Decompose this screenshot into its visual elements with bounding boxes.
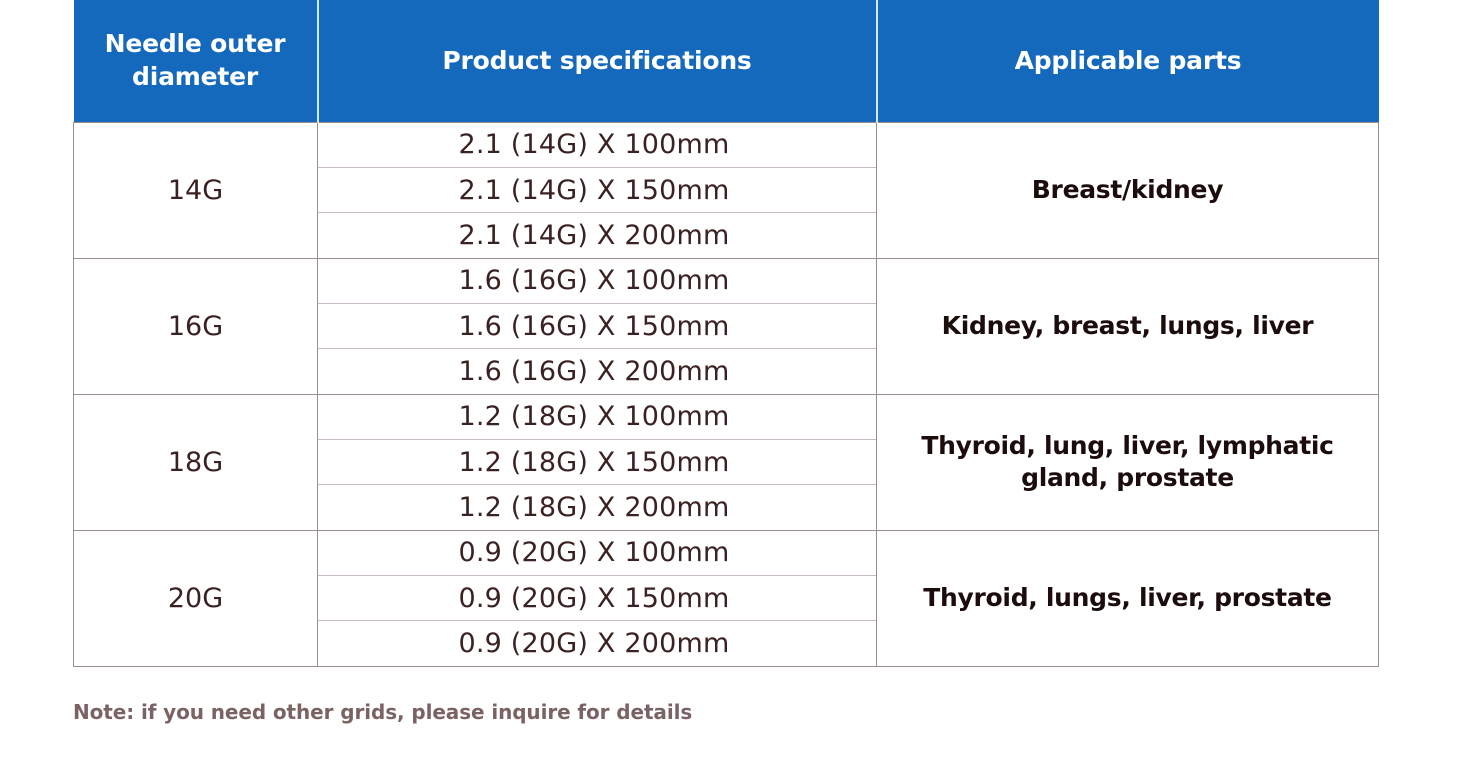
gauge-value: 20G bbox=[74, 530, 318, 666]
header-row: Needle outer diameter Product specificat… bbox=[74, 0, 1379, 122]
spec-item: 2.1 (14G) X 100mm bbox=[318, 123, 876, 168]
spec-value: 0.9 (20G) X 150mm bbox=[318, 576, 876, 621]
applicable-parts-value: Breast/kidney bbox=[877, 122, 1379, 258]
gauge-value: 14G bbox=[74, 122, 318, 258]
spec-value: 1.2 (18G) X 100mm bbox=[318, 395, 876, 440]
spec-item: 0.9 (20G) X 100mm bbox=[318, 531, 876, 576]
spec-list: 1.2 (18G) X 100mm 1.2 (18G) X 150mm 1.2 … bbox=[318, 395, 876, 530]
spec-item: 1.6 (16G) X 150mm bbox=[318, 304, 876, 349]
column-header-applicable-parts: Applicable parts bbox=[877, 0, 1379, 122]
spec-value: 2.1 (14G) X 150mm bbox=[318, 168, 876, 213]
spec-item: 1.2 (18G) X 100mm bbox=[318, 395, 876, 440]
spec-group: 0.9 (20G) X 100mm 0.9 (20G) X 150mm 0.9 … bbox=[318, 530, 877, 666]
spec-item: 1.6 (16G) X 200mm bbox=[318, 349, 876, 394]
spec-value: 1.6 (16G) X 150mm bbox=[318, 304, 876, 349]
spec-item: 1.2 (18G) X 150mm bbox=[318, 440, 876, 485]
gauge-value: 16G bbox=[74, 258, 318, 394]
spec-item: 1.6 (16G) X 100mm bbox=[318, 259, 876, 304]
spec-item: 0.9 (20G) X 200mm bbox=[318, 621, 876, 666]
spec-group: 2.1 (14G) X 100mm 2.1 (14G) X 150mm 2.1 … bbox=[318, 122, 877, 258]
table-row: 18G 1.2 (18G) X 100mm 1.2 (18G) X 150mm … bbox=[74, 394, 1379, 530]
spec-list: 1.6 (16G) X 100mm 1.6 (16G) X 150mm 1.6 … bbox=[318, 259, 876, 394]
spec-value: 0.9 (20G) X 200mm bbox=[318, 621, 876, 666]
spec-value: 1.6 (16G) X 100mm bbox=[318, 259, 876, 304]
table-row: 16G 1.6 (16G) X 100mm 1.6 (16G) X 150mm … bbox=[74, 258, 1379, 394]
table-note: Note: if you need other grids, please in… bbox=[73, 700, 692, 724]
applicable-parts-value: Kidney, breast, lungs, liver bbox=[877, 258, 1379, 394]
applicable-parts-value: Thyroid, lungs, liver, prostate bbox=[877, 530, 1379, 666]
spec-item: 0.9 (20G) X 150mm bbox=[318, 576, 876, 621]
spec-value: 2.1 (14G) X 200mm bbox=[318, 213, 876, 258]
spec-group: 1.2 (18G) X 100mm 1.2 (18G) X 150mm 1.2 … bbox=[318, 394, 877, 530]
table-row: 14G 2.1 (14G) X 100mm 2.1 (14G) X 150mm … bbox=[74, 122, 1379, 258]
spec-value: 0.9 (20G) X 100mm bbox=[318, 531, 876, 576]
spec-value: 2.1 (14G) X 100mm bbox=[318, 123, 876, 168]
column-header-needle-outer-diameter: Needle outer diameter bbox=[74, 0, 318, 122]
column-header-product-specifications: Product specifications bbox=[318, 0, 877, 122]
needle-specification-table: Needle outer diameter Product specificat… bbox=[73, 0, 1379, 667]
table-row: 20G 0.9 (20G) X 100mm 0.9 (20G) X 150mm … bbox=[74, 530, 1379, 666]
spec-value: 1.2 (18G) X 150mm bbox=[318, 440, 876, 485]
applicable-parts-value: Thyroid, lung, liver, lymphatic gland, p… bbox=[877, 394, 1379, 530]
spec-list: 2.1 (14G) X 100mm 2.1 (14G) X 150mm 2.1 … bbox=[318, 123, 876, 258]
spec-value: 1.6 (16G) X 200mm bbox=[318, 349, 876, 394]
spec-group: 1.6 (16G) X 100mm 1.6 (16G) X 150mm 1.6 … bbox=[318, 258, 877, 394]
spec-item: 1.2 (18G) X 200mm bbox=[318, 485, 876, 530]
spec-item: 2.1 (14G) X 150mm bbox=[318, 168, 876, 213]
spec-list: 0.9 (20G) X 100mm 0.9 (20G) X 150mm 0.9 … bbox=[318, 531, 876, 666]
spec-value: 1.2 (18G) X 200mm bbox=[318, 485, 876, 530]
table-header: Needle outer diameter Product specificat… bbox=[74, 0, 1379, 122]
page-root: Needle outer diameter Product specificat… bbox=[0, 0, 1461, 757]
spec-item: 2.1 (14G) X 200mm bbox=[318, 213, 876, 258]
gauge-value: 18G bbox=[74, 394, 318, 530]
table-body: 14G 2.1 (14G) X 100mm 2.1 (14G) X 150mm … bbox=[74, 122, 1379, 666]
